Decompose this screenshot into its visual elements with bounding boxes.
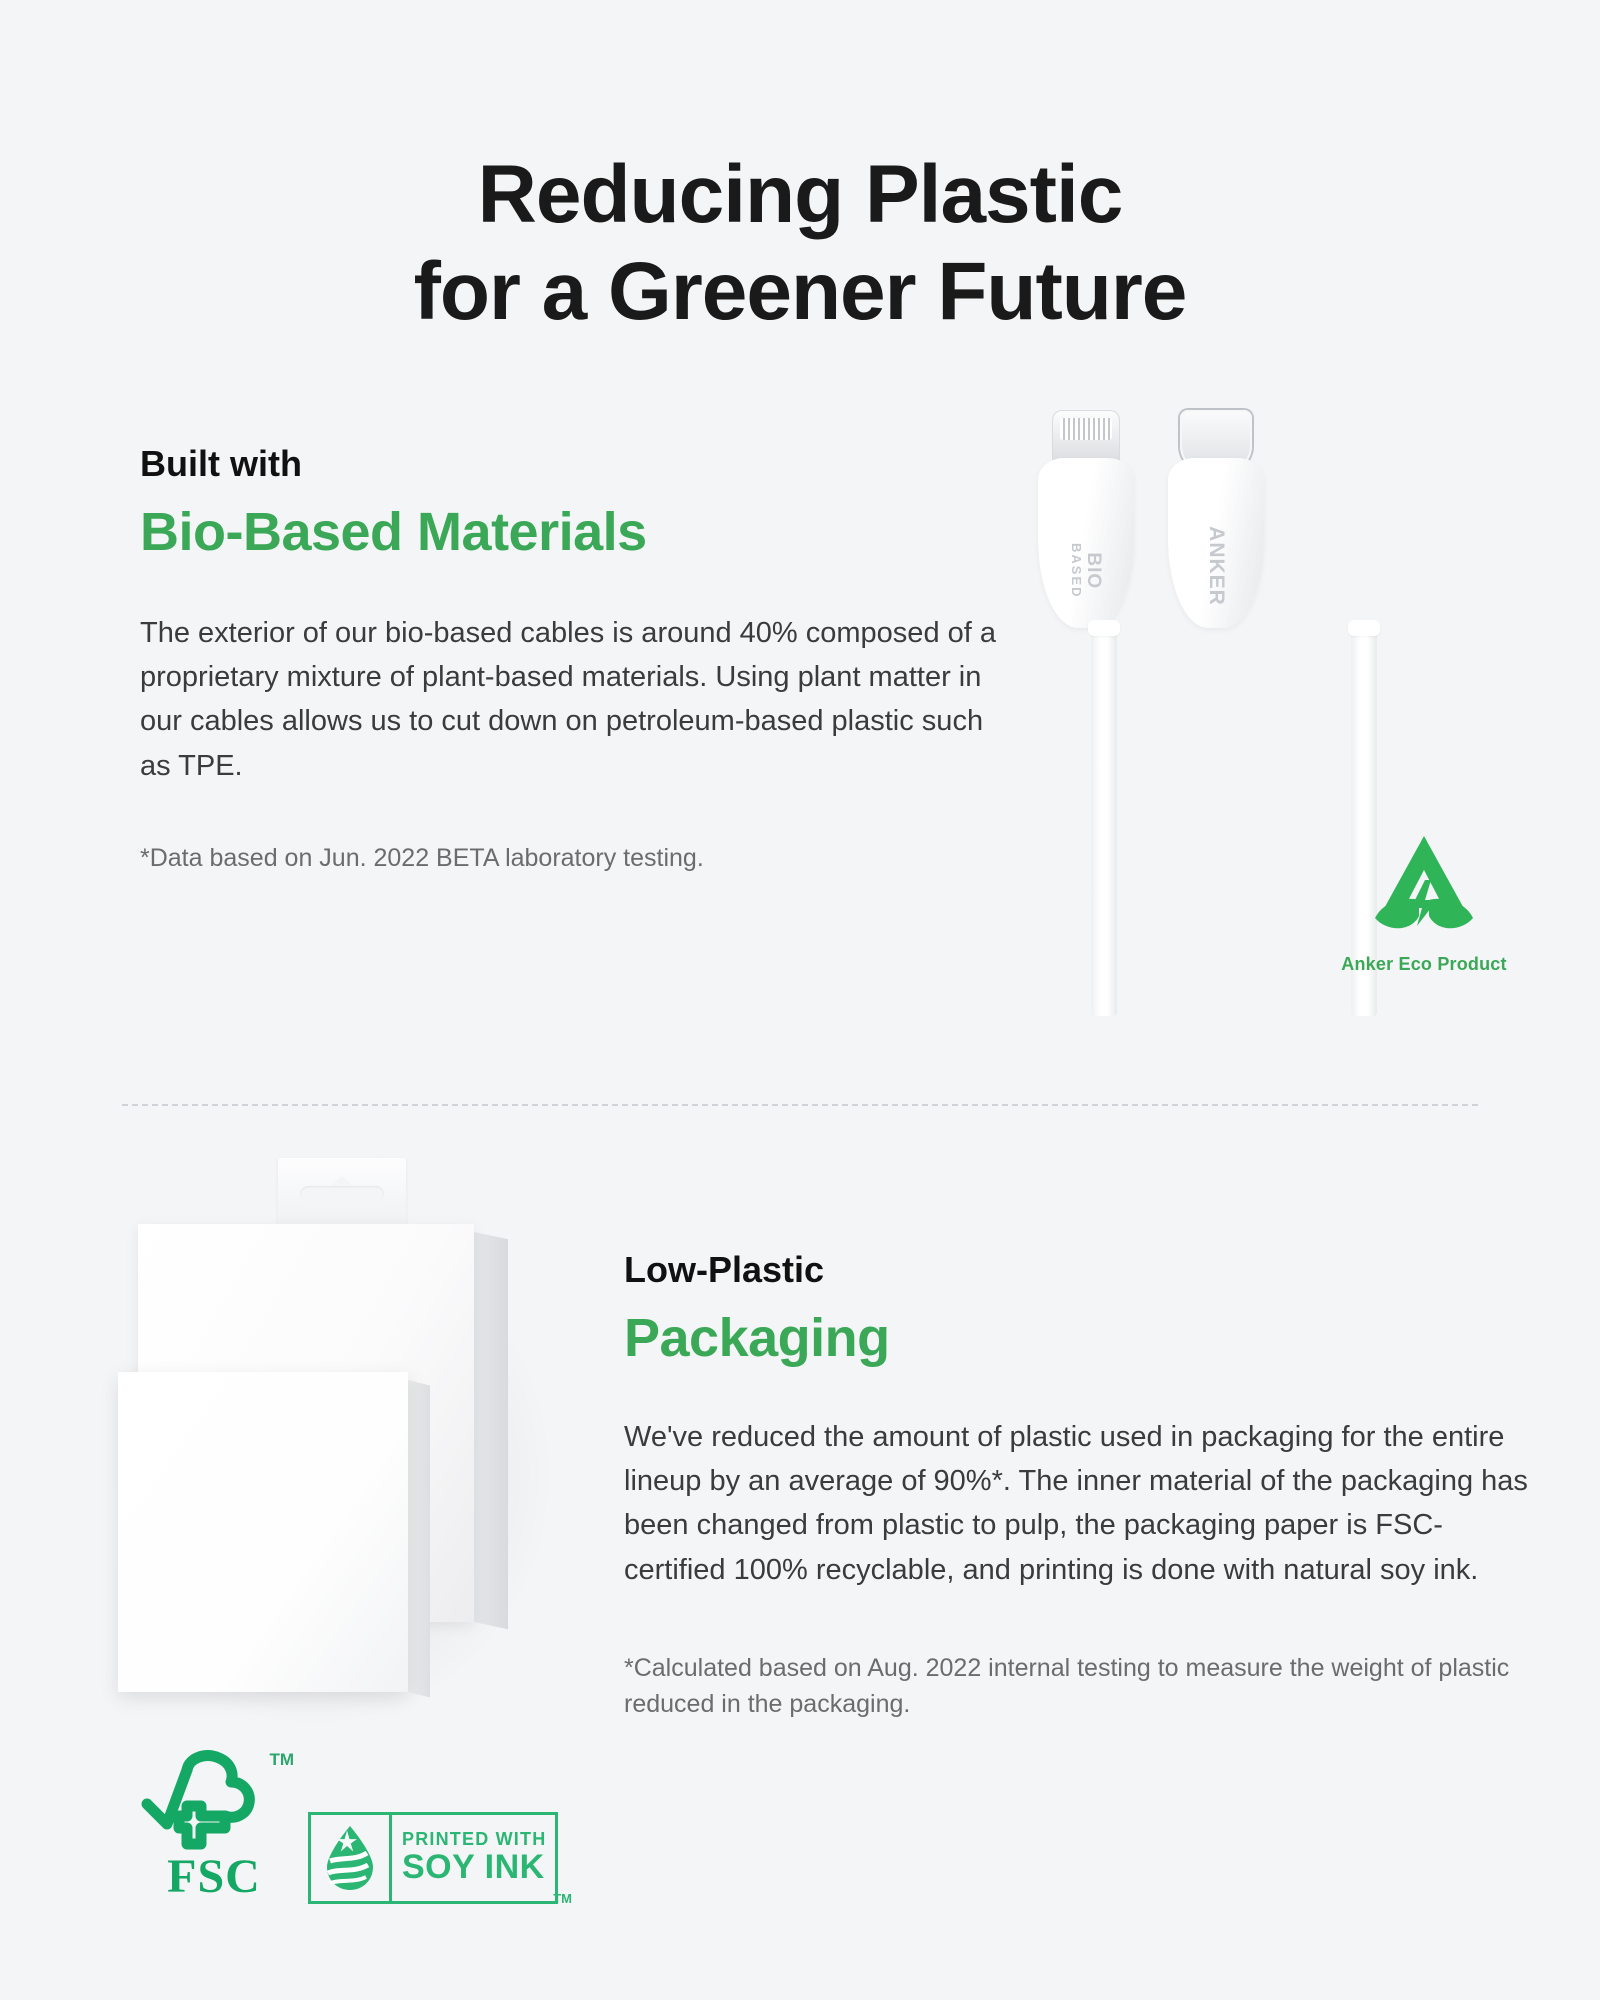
- bio-label-line-2: BASED: [1069, 543, 1083, 599]
- anker-eco-product-label: Anker Eco Product: [1316, 954, 1532, 975]
- soy-ink-droplet-icon: [321, 1823, 379, 1893]
- lightning-connector-icon: BIO BASED: [1038, 392, 1134, 652]
- bio-headline: Bio-Based Materials: [140, 501, 1020, 563]
- low-plastic-packaging-section: Low-Plastic Packaging We've reduced the …: [624, 1248, 1564, 1747]
- soy-ink-logo: PRINTED WITH SOY INK TM: [308, 1812, 558, 1904]
- package-front-box-side: [408, 1380, 430, 1697]
- packaging-body-text: We've reduced the amount of plastic used…: [624, 1415, 1544, 1591]
- package-hang-tab: [278, 1158, 406, 1228]
- usb-c-connector-icon: ANKER: [1168, 392, 1264, 652]
- bio-cable-image: BIO BASED ANKER: [1020, 392, 1320, 1017]
- soy-ink-trademark-label: TM: [553, 1891, 572, 1906]
- bio-label-line-1: BIO: [1083, 552, 1104, 589]
- anker-eco-leaf-bolt-icon: [1359, 828, 1489, 946]
- anker-eco-product-badge: Anker Eco Product: [1316, 828, 1532, 975]
- packaging-box-image: [118, 1152, 548, 1732]
- section-divider: [122, 1104, 1478, 1106]
- lightning-plug-housing: BIO BASED: [1038, 458, 1134, 628]
- package-front-box: [118, 1372, 408, 1692]
- soy-ink-text-panel: PRINTED WITH SOY INK: [389, 1812, 558, 1904]
- bio-based-plug-label: BIO BASED: [1069, 543, 1103, 599]
- soy-ink-line-1: PRINTED WITH: [402, 1830, 547, 1848]
- bio-eyebrow: Built with: [140, 442, 1020, 485]
- packaging-eyebrow: Low-Plastic: [624, 1248, 1564, 1291]
- packaging-headline: Packaging: [624, 1307, 1564, 1369]
- package-back-box-side: [474, 1232, 508, 1629]
- fsc-tree-checkmark-icon: [139, 1748, 289, 1852]
- anker-plug-label: ANKER: [1204, 526, 1228, 606]
- fsc-wordmark: FSC: [128, 1853, 300, 1901]
- fsc-trademark-label: TM: [269, 1750, 294, 1770]
- page-title-line-1: Reducing Plastic: [478, 149, 1123, 240]
- usb-c-plug-housing: ANKER: [1168, 458, 1264, 628]
- bio-materials-section: Built with Bio-Based Materials The exter…: [140, 442, 1020, 901]
- soy-ink-line-2: SOY INK: [402, 1850, 547, 1885]
- fsc-certification-logo: TM FSC: [128, 1748, 300, 1901]
- bio-footnote: *Data based on Jun. 2022 BETA laboratory…: [140, 840, 1020, 876]
- packaging-footnote: *Calculated based on Aug. 2022 internal …: [624, 1650, 1554, 1723]
- page-title-line-2: for a Greener Future: [0, 244, 1600, 341]
- infographic-page: Reducing Plastic for a Greener Future Bu…: [0, 0, 1600, 2000]
- page-title: Reducing Plastic for a Greener Future: [0, 147, 1600, 341]
- bio-body-text: The exterior of our bio-based cables is …: [140, 611, 1000, 787]
- soy-ink-droplet-panel: [308, 1812, 389, 1904]
- cable-cord-left: [1091, 628, 1117, 1016]
